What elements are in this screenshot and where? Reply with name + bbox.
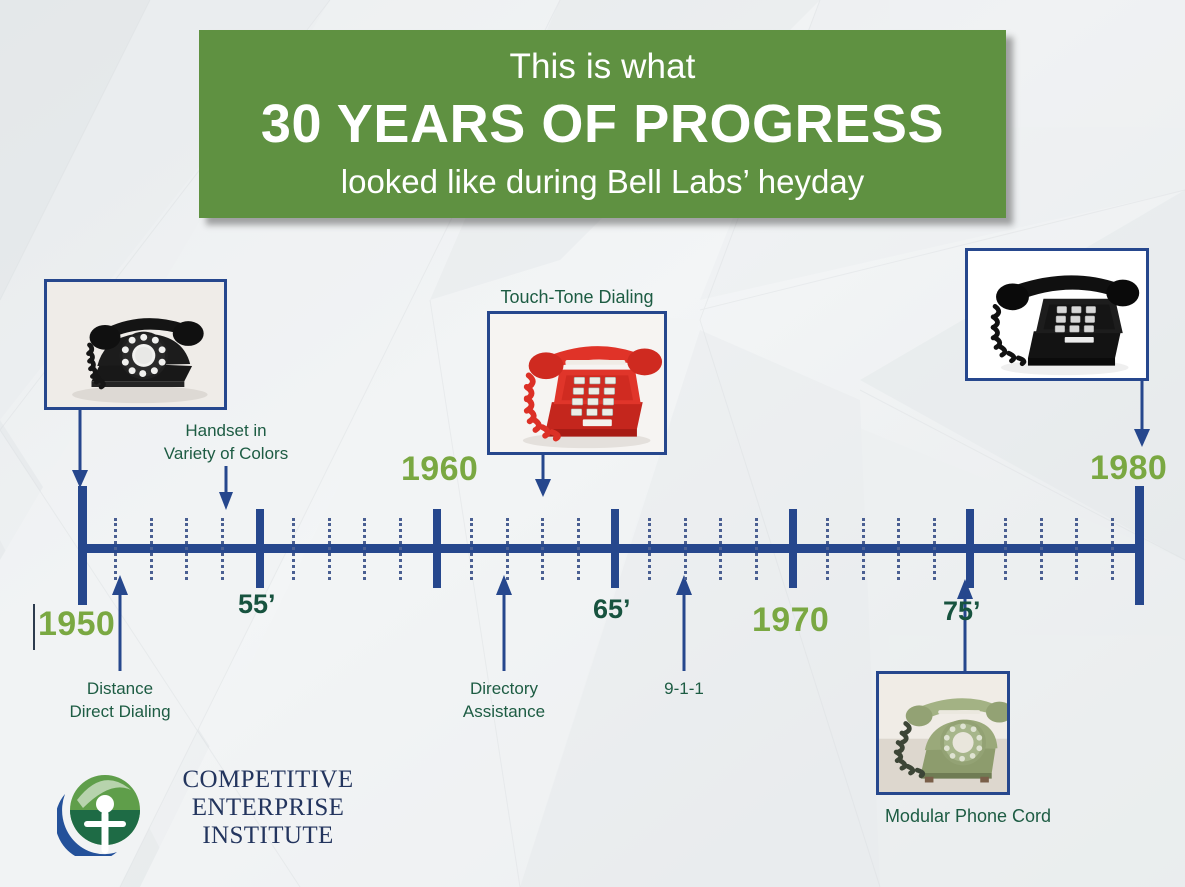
year-tick-1974 — [933, 518, 936, 580]
major-tick-1955 — [256, 509, 264, 588]
major-tick-1965 — [611, 509, 619, 588]
connector-nine-one-one — [674, 573, 694, 671]
connector-handset-colors — [216, 466, 236, 514]
banner-line-1: This is what — [510, 49, 696, 86]
year-tick-1957 — [328, 518, 331, 580]
year-label-1975: 75’ — [943, 596, 981, 627]
cei-logo: COMPETITIVE ENTERPRISE INSTITUTE — [57, 762, 327, 862]
year-tick-1976 — [1004, 518, 1007, 580]
year-tick-1958 — [363, 518, 366, 580]
cei-logo-line-1: COMPETITIVE — [153, 766, 383, 794]
cei-logo-wordmark: COMPETITIVE ENTERPRISE INSTITUTE — [153, 766, 383, 850]
cei-globe-figure-logo-icon — [57, 764, 143, 856]
header-banner: This is what 30 YEARS OF PROGRESS looked… — [199, 30, 1006, 218]
major-tick-1975 — [966, 509, 974, 588]
green-rotary-desk-telephone-image — [879, 674, 1007, 792]
year-tick-1961 — [470, 518, 473, 580]
connector-directory-assistance — [494, 573, 514, 671]
major-tick-1950 — [78, 486, 87, 605]
year-tick-1952 — [150, 518, 153, 580]
year-tick-1966 — [648, 518, 651, 580]
connector-photo-1980 — [1132, 381, 1152, 453]
black-rotary-desk-telephone-image — [47, 282, 224, 407]
major-tick-1960 — [433, 509, 441, 588]
year-label-1965: 65’ — [593, 594, 631, 625]
year-tick-1953 — [185, 518, 188, 580]
connector-photo-1950 — [70, 410, 90, 498]
year-tick-1954 — [221, 518, 224, 580]
year-tick-1963 — [541, 518, 544, 580]
cei-logo-line-2: ENTERPRISE — [153, 794, 383, 822]
caption-touch-tone-dialing: Touch-Tone Dialing — [477, 286, 677, 310]
year-label-1960: 1960 — [401, 450, 478, 489]
cei-logo-line-3: INSTITUTE — [153, 822, 383, 850]
year-tick-1959 — [399, 518, 402, 580]
major-tick-1970 — [789, 509, 797, 588]
year-tick-1951 — [114, 518, 117, 580]
year-tick-1968 — [719, 518, 722, 580]
year-tick-1973 — [897, 518, 900, 580]
black-push-button-telephone-image — [968, 251, 1146, 378]
photo-1980-black-push-button — [965, 248, 1149, 381]
connector-touch-tone — [533, 455, 553, 503]
year-label-1955: 55’ — [238, 589, 276, 620]
caption-directory-assistance: Directory Assistance — [416, 678, 592, 723]
caption-handset-variety-of-colors: Handset in Variety of Colors — [138, 420, 314, 465]
year-tick-1977 — [1040, 518, 1043, 580]
caption-modular-phone-cord: Modular Phone Cord — [868, 805, 1068, 829]
photo-touch-tone-red — [487, 311, 667, 455]
year-label-1980: 1980 — [1090, 449, 1167, 488]
year-label-1950: 1950 — [38, 605, 115, 644]
red-push-button-telephone-image — [490, 314, 664, 452]
year-tick-1967 — [684, 518, 687, 580]
year-tick-1971 — [826, 518, 829, 580]
year-tick-1979 — [1111, 518, 1114, 580]
caption-distance-direct-dialing: Distance Direct Dialing — [32, 678, 208, 723]
banner-headline: 30 YEARS OF PROGRESS — [261, 94, 944, 154]
year-tick-1972 — [862, 518, 865, 580]
banner-line-3: looked like during Bell Labs’ heyday — [341, 165, 864, 200]
year-label-1970: 1970 — [752, 601, 829, 640]
year-tick-1956 — [292, 518, 295, 580]
year-tick-1978 — [1075, 518, 1078, 580]
year-tick-1969 — [755, 518, 758, 580]
major-tick-1980 — [1135, 486, 1144, 605]
photo-modular-green — [876, 671, 1010, 795]
year-tick-1962 — [506, 518, 509, 580]
caption-nine-one-one: 9-1-1 — [596, 678, 772, 701]
photo-1950-black-rotary — [44, 279, 227, 410]
year-tick-1964 — [577, 518, 580, 580]
year-1950-rule — [33, 604, 35, 650]
